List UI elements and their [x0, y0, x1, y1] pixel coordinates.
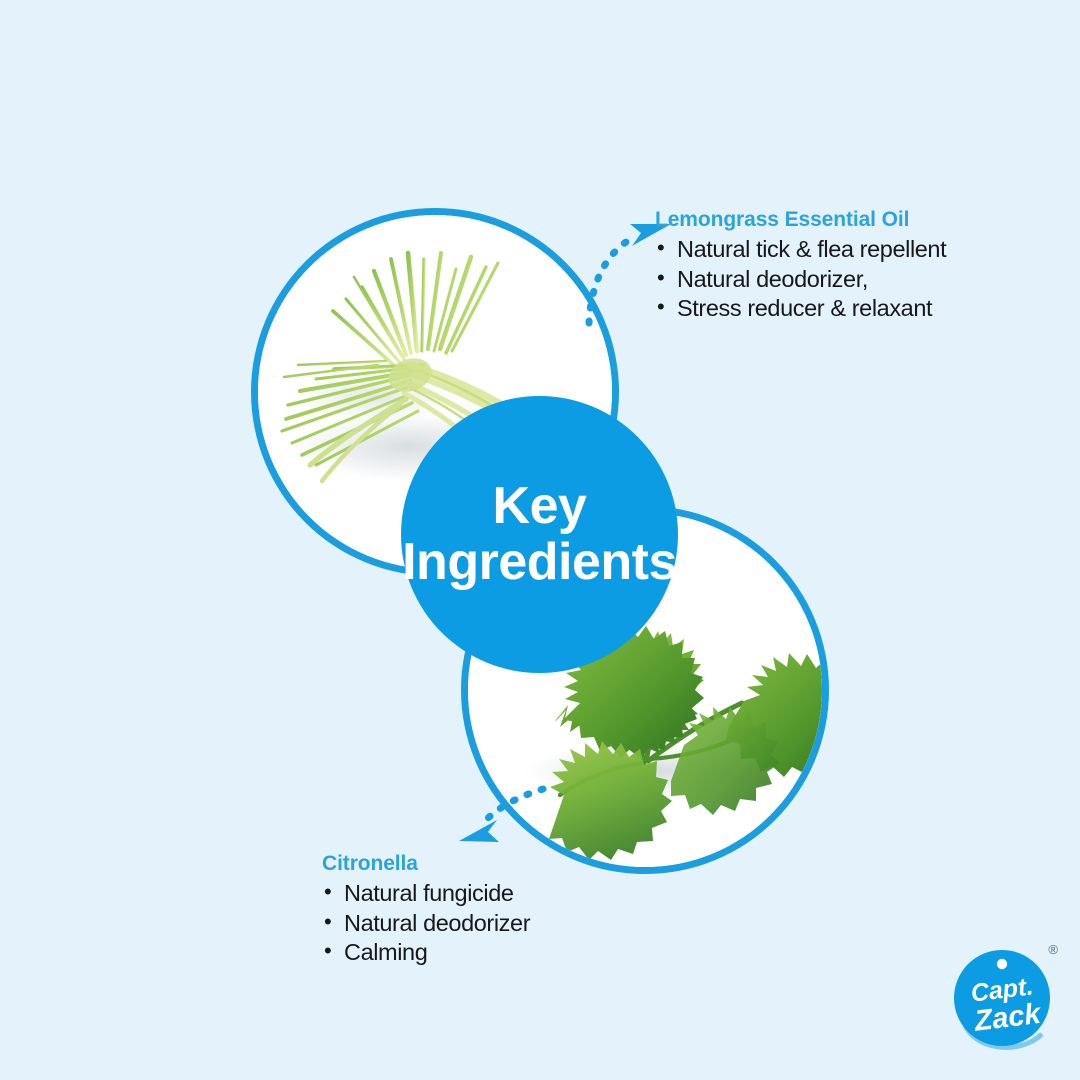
logo-mark: Capt. Zack	[950, 938, 1058, 1058]
list-item: Natural fungicide	[322, 879, 530, 909]
page-title: Key Ingredients	[402, 479, 677, 589]
list-item: Calming	[322, 938, 530, 968]
registered-trademark-icon: ®	[1048, 942, 1058, 957]
ingredient-heading-citronella: Citronella	[322, 852, 530, 876]
list-item: Natural deodorizer	[322, 909, 530, 939]
ingredient-heading-lemongrass: Lemongrass Essential Oil	[655, 208, 946, 232]
infographic-canvas: Key Ingredients Lemongrass Essential Oil…	[0, 0, 1080, 1080]
list-item: Natural deodorizer,	[655, 265, 946, 295]
list-item: Natural tick & flea repellent	[655, 235, 946, 265]
capt-zack-logo[interactable]: Capt. Zack ®	[950, 938, 1058, 1058]
benefit-list-citronella: Natural fungicide Natural deodorizer Cal…	[322, 879, 530, 968]
center-badge: Key Ingredients	[401, 396, 678, 673]
info-block-citronella: Citronella Natural fungicide Natural deo…	[322, 852, 530, 968]
benefit-list-lemongrass: Natural tick & flea repellent Natural de…	[655, 235, 946, 324]
info-block-lemongrass: Lemongrass Essential Oil Natural tick & …	[655, 208, 946, 324]
list-item: Stress reducer & relaxant	[655, 294, 946, 324]
